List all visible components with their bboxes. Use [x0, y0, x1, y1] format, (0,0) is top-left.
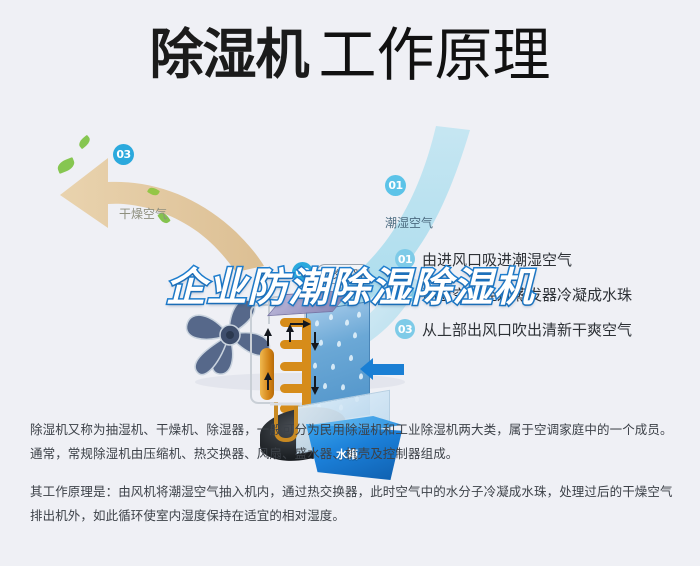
air-inlet-arrowhead [360, 358, 373, 380]
description-block: 除湿机又称为抽湿机、干燥机、除湿器，一般可分为民用除湿机和工业除湿机两大类，属于… [30, 418, 674, 542]
page-title: 除湿机工作原理 [0, 26, 700, 84]
infographic-page: 除湿机工作原理 [0, 0, 700, 566]
diagram-badge-02: 02 [292, 262, 313, 283]
step-text: 从上部出风口吹出清新干爽空气 [422, 319, 632, 340]
step-number: 03 [395, 319, 415, 339]
paragraph-2: 其工作原理是：由风机将潮湿空气抽入机内，通过热交换器，此时空气中的水分子冷凝成水… [30, 480, 674, 528]
air-inlet-arrow [370, 364, 404, 375]
step-number: 02 [395, 284, 415, 304]
paragraph-1: 除湿机又称为抽湿机、干燥机、除湿器，一般可分为民用除湿机和工业除湿机两大类，属于… [30, 418, 674, 466]
heat-exchanger-callout-label: 热交换器 [323, 270, 363, 281]
process-step-list: 01 由进风口吸进潮湿空气 02 潮湿空气经过蒸发器冷凝成水珠 03 从上部出风… [395, 248, 695, 353]
step-text: 潮湿空气经过蒸发器冷凝成水珠 [422, 284, 632, 305]
diagram-label-humid-air: 潮湿空气 [385, 214, 433, 231]
page-title-part2: 工作原理 [318, 21, 550, 89]
list-item: 01 由进风口吸进潮湿空气 [395, 248, 695, 270]
step-text: 由进风口吸进潮湿空气 [422, 249, 572, 270]
flow-arrow [311, 387, 319, 395]
list-item: 02 潮湿空气经过蒸发器冷凝成水珠 [395, 283, 695, 305]
diagram-badge-01: 01 [385, 175, 406, 196]
flow-arrow [303, 320, 311, 328]
flow-arrow [311, 343, 319, 351]
diagram-label-dry-air: 干燥空气 [119, 205, 167, 222]
heat-exchanger-callout: 热交换器 [316, 264, 370, 284]
list-item: 03 从上部出风口吹出清新干爽空气 [395, 318, 695, 340]
diagram-badge-03: 03 [113, 144, 134, 165]
flow-arrow [290, 323, 304, 325]
step-number: 01 [395, 249, 415, 269]
page-title-part1: 除湿机 [149, 23, 308, 86]
